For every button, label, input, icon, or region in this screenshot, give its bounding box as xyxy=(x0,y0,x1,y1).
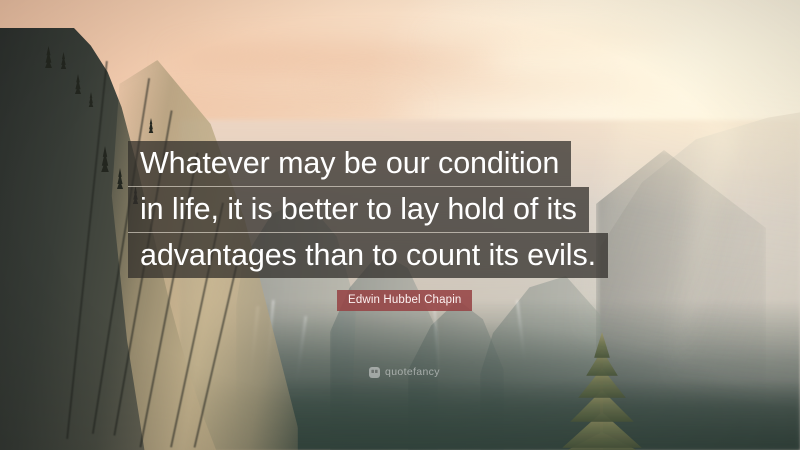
tree-foliage-tier xyxy=(594,332,610,358)
quote-line: Whatever may be our condition xyxy=(128,141,571,187)
watermark-label: quotefancy xyxy=(385,367,440,378)
watermark: quotefancy xyxy=(369,367,440,378)
quote-image: Whatever may be our condition in life, i… xyxy=(0,0,800,450)
quote-line: advantages than to count its evils. xyxy=(128,233,608,278)
cloud-streak xyxy=(300,74,680,94)
foreground-conifer-tree xyxy=(556,332,648,450)
quote-mark-badge-icon xyxy=(369,367,380,378)
cloud-streak xyxy=(430,30,690,52)
author-badge: Edwin Hubbel Chapin xyxy=(337,290,472,311)
quote-line: in life, it is better to lay hold of its xyxy=(128,187,589,233)
cloud-streak xyxy=(170,46,500,72)
quote-text-block: Whatever may be our condition in life, i… xyxy=(128,141,688,278)
